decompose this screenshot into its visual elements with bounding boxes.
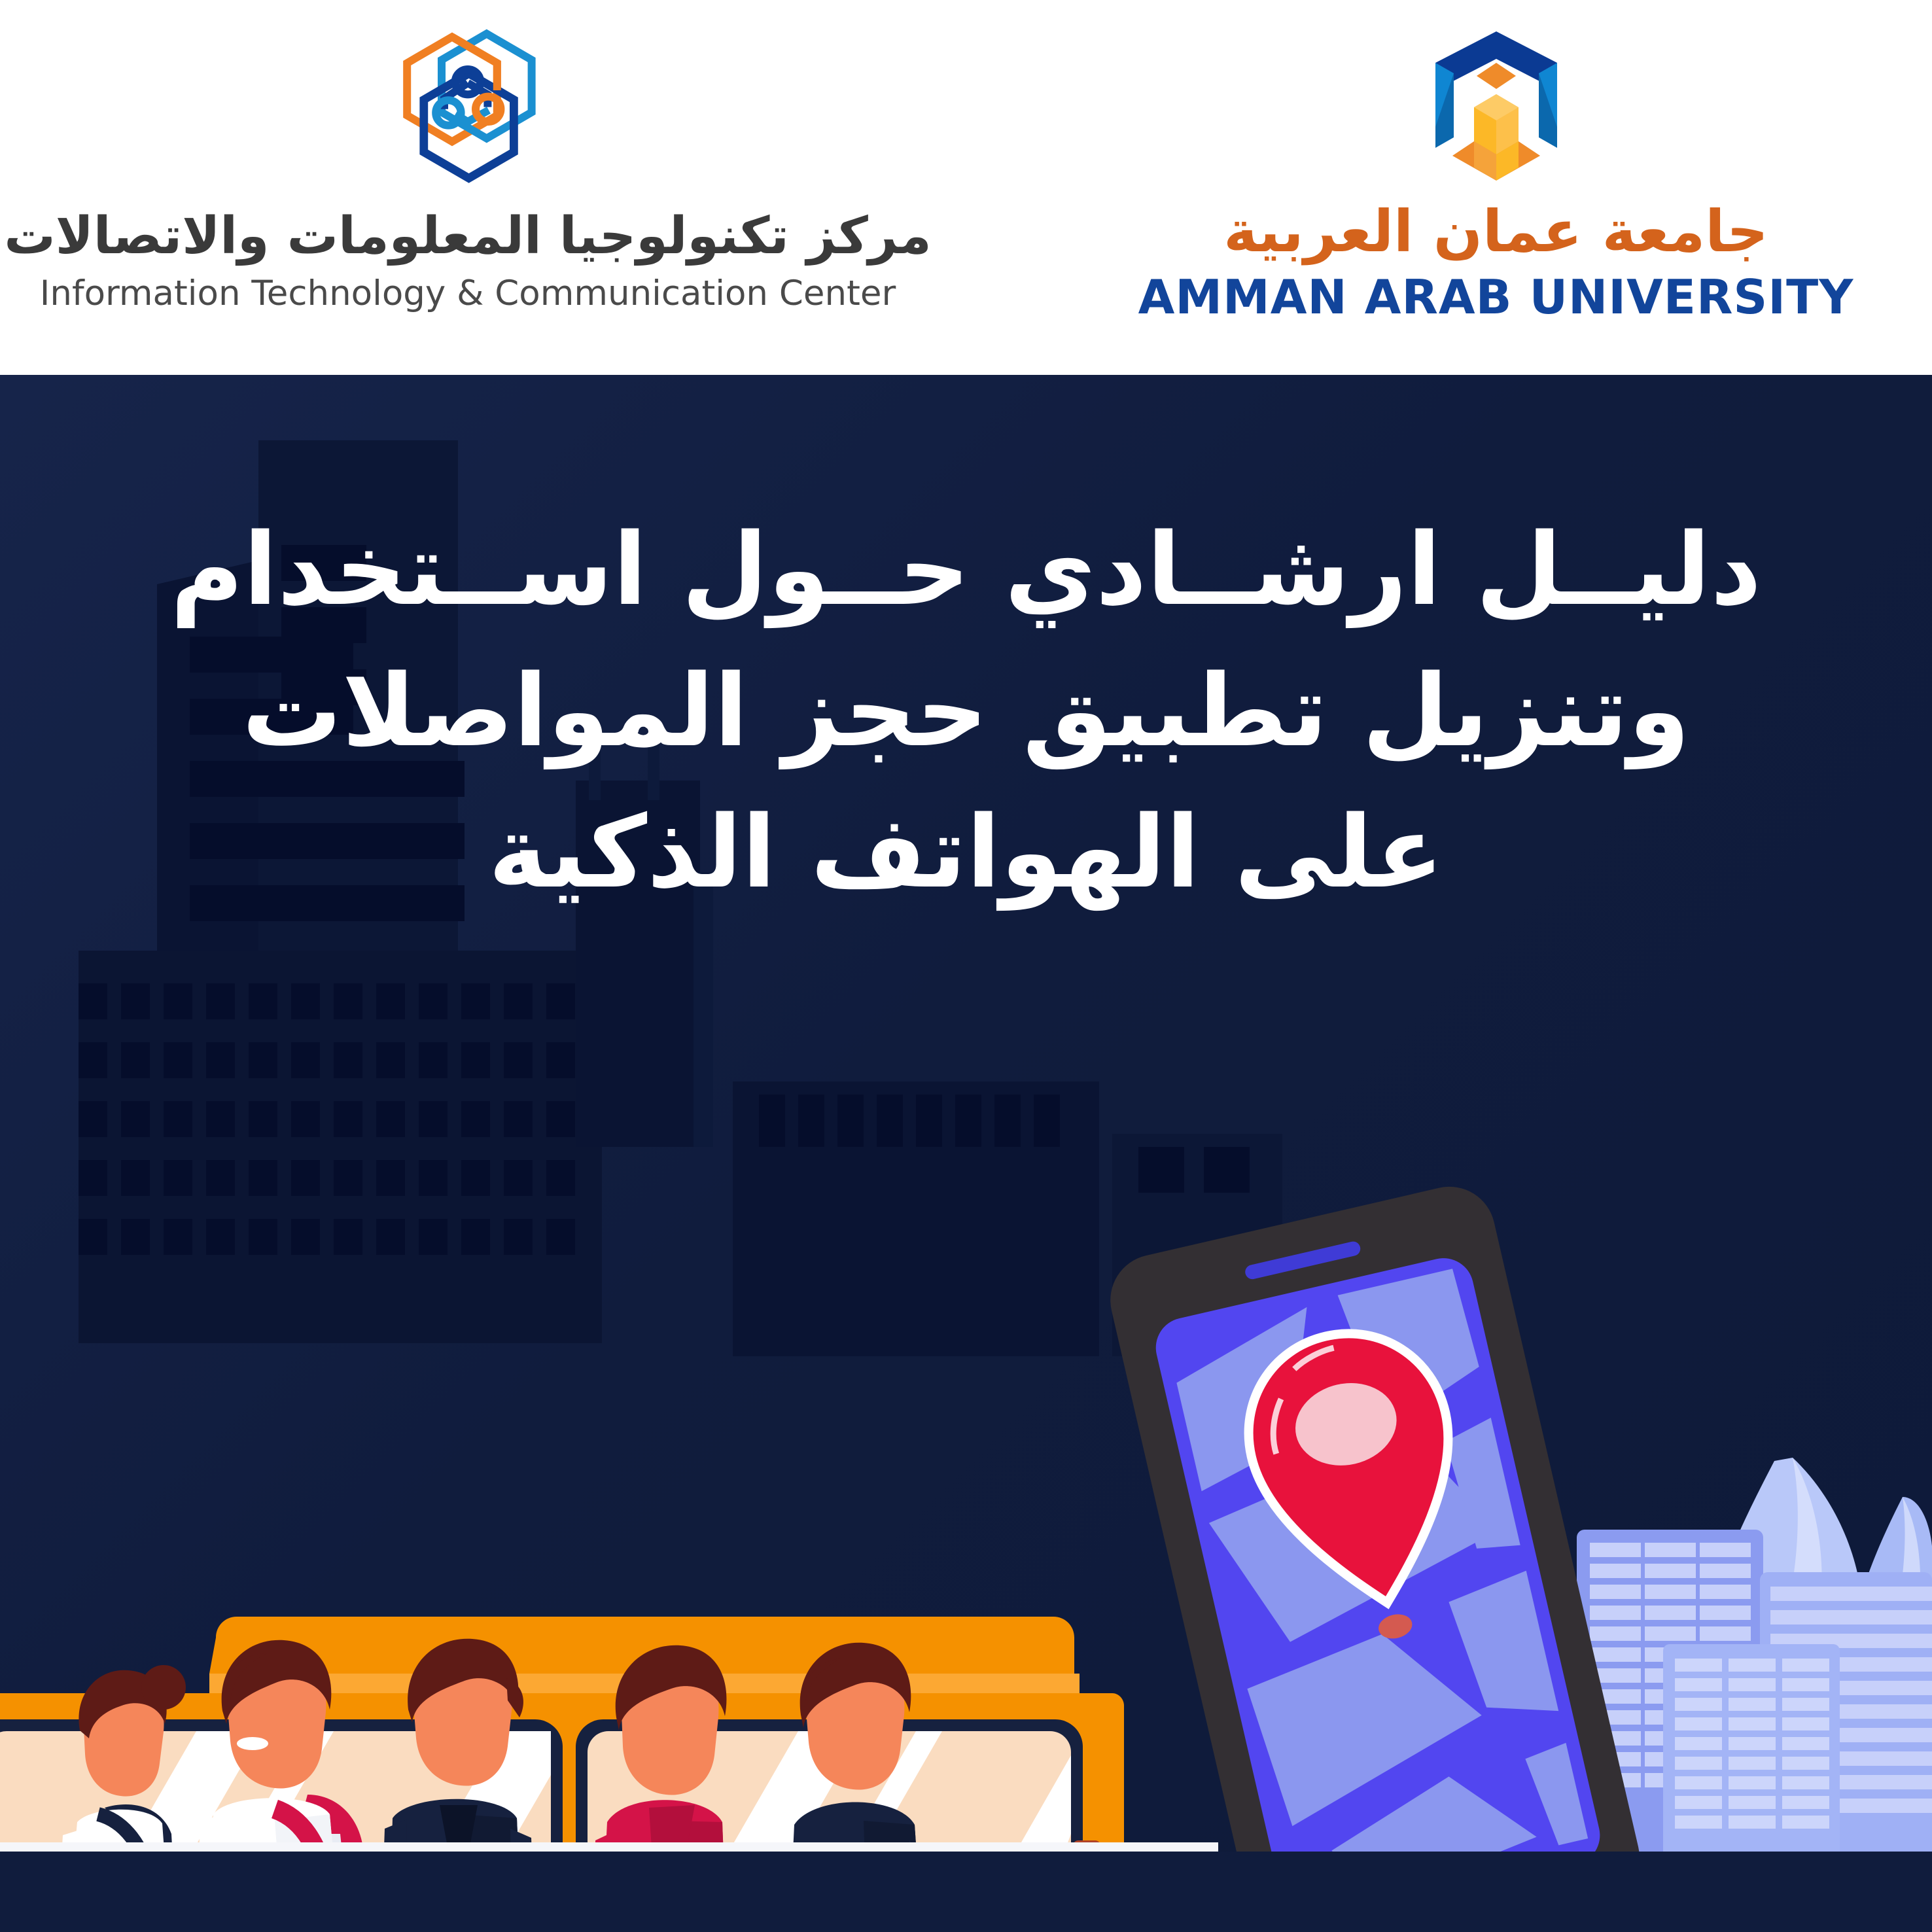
main-poster-body: دليــل ارشــادي حــول اســتخدام وتنزيل ت… <box>0 375 1932 1932</box>
itcc-arabic-name: مركز تكنولوجيا المعلومات والاتصالات <box>0 211 936 262</box>
aau-english-name: AMMAN ARAB UNIVERSITY <box>1060 270 1932 325</box>
aau-logo: جامعة عمان العربية AMMAN ARAB UNIVERSITY <box>1060 0 1932 325</box>
aau-arabic-name: جامعة عمان العربية <box>1060 203 1932 260</box>
headline-line-1: دليــل ارشــادي حــول اســتخدام <box>111 499 1821 641</box>
itcc-logo: مركز تكنولوجيا المعلومات والاتصالات Info… <box>0 0 936 313</box>
itcc-english-name: Information Technology & Communication C… <box>0 273 936 313</box>
smartphone-with-map <box>1101 1178 1649 1932</box>
header-logo-bar: مركز تكنولوجيا المعلومات والاتصالات Info… <box>0 0 1932 375</box>
headline-line-3: على الهواتف الذكية <box>111 782 1821 923</box>
hair-bun <box>141 1665 186 1710</box>
shield-monument-icon <box>1429 29 1564 183</box>
light-blue-buildings <box>1577 1458 1932 1870</box>
headline-block: دليــل ارشــادي حــول اســتخدام وتنزيل ت… <box>0 499 1932 922</box>
ground-below <box>0 1852 1932 1932</box>
hexagon-network-icon <box>389 27 546 190</box>
headline-line-2: وتنزيل تطبيق حجز المواصلات <box>111 641 1821 782</box>
ground-line <box>0 1842 1218 1852</box>
poster-root: مركز تكنولوجيا المعلومات والاتصالات Info… <box>0 0 1932 1932</box>
